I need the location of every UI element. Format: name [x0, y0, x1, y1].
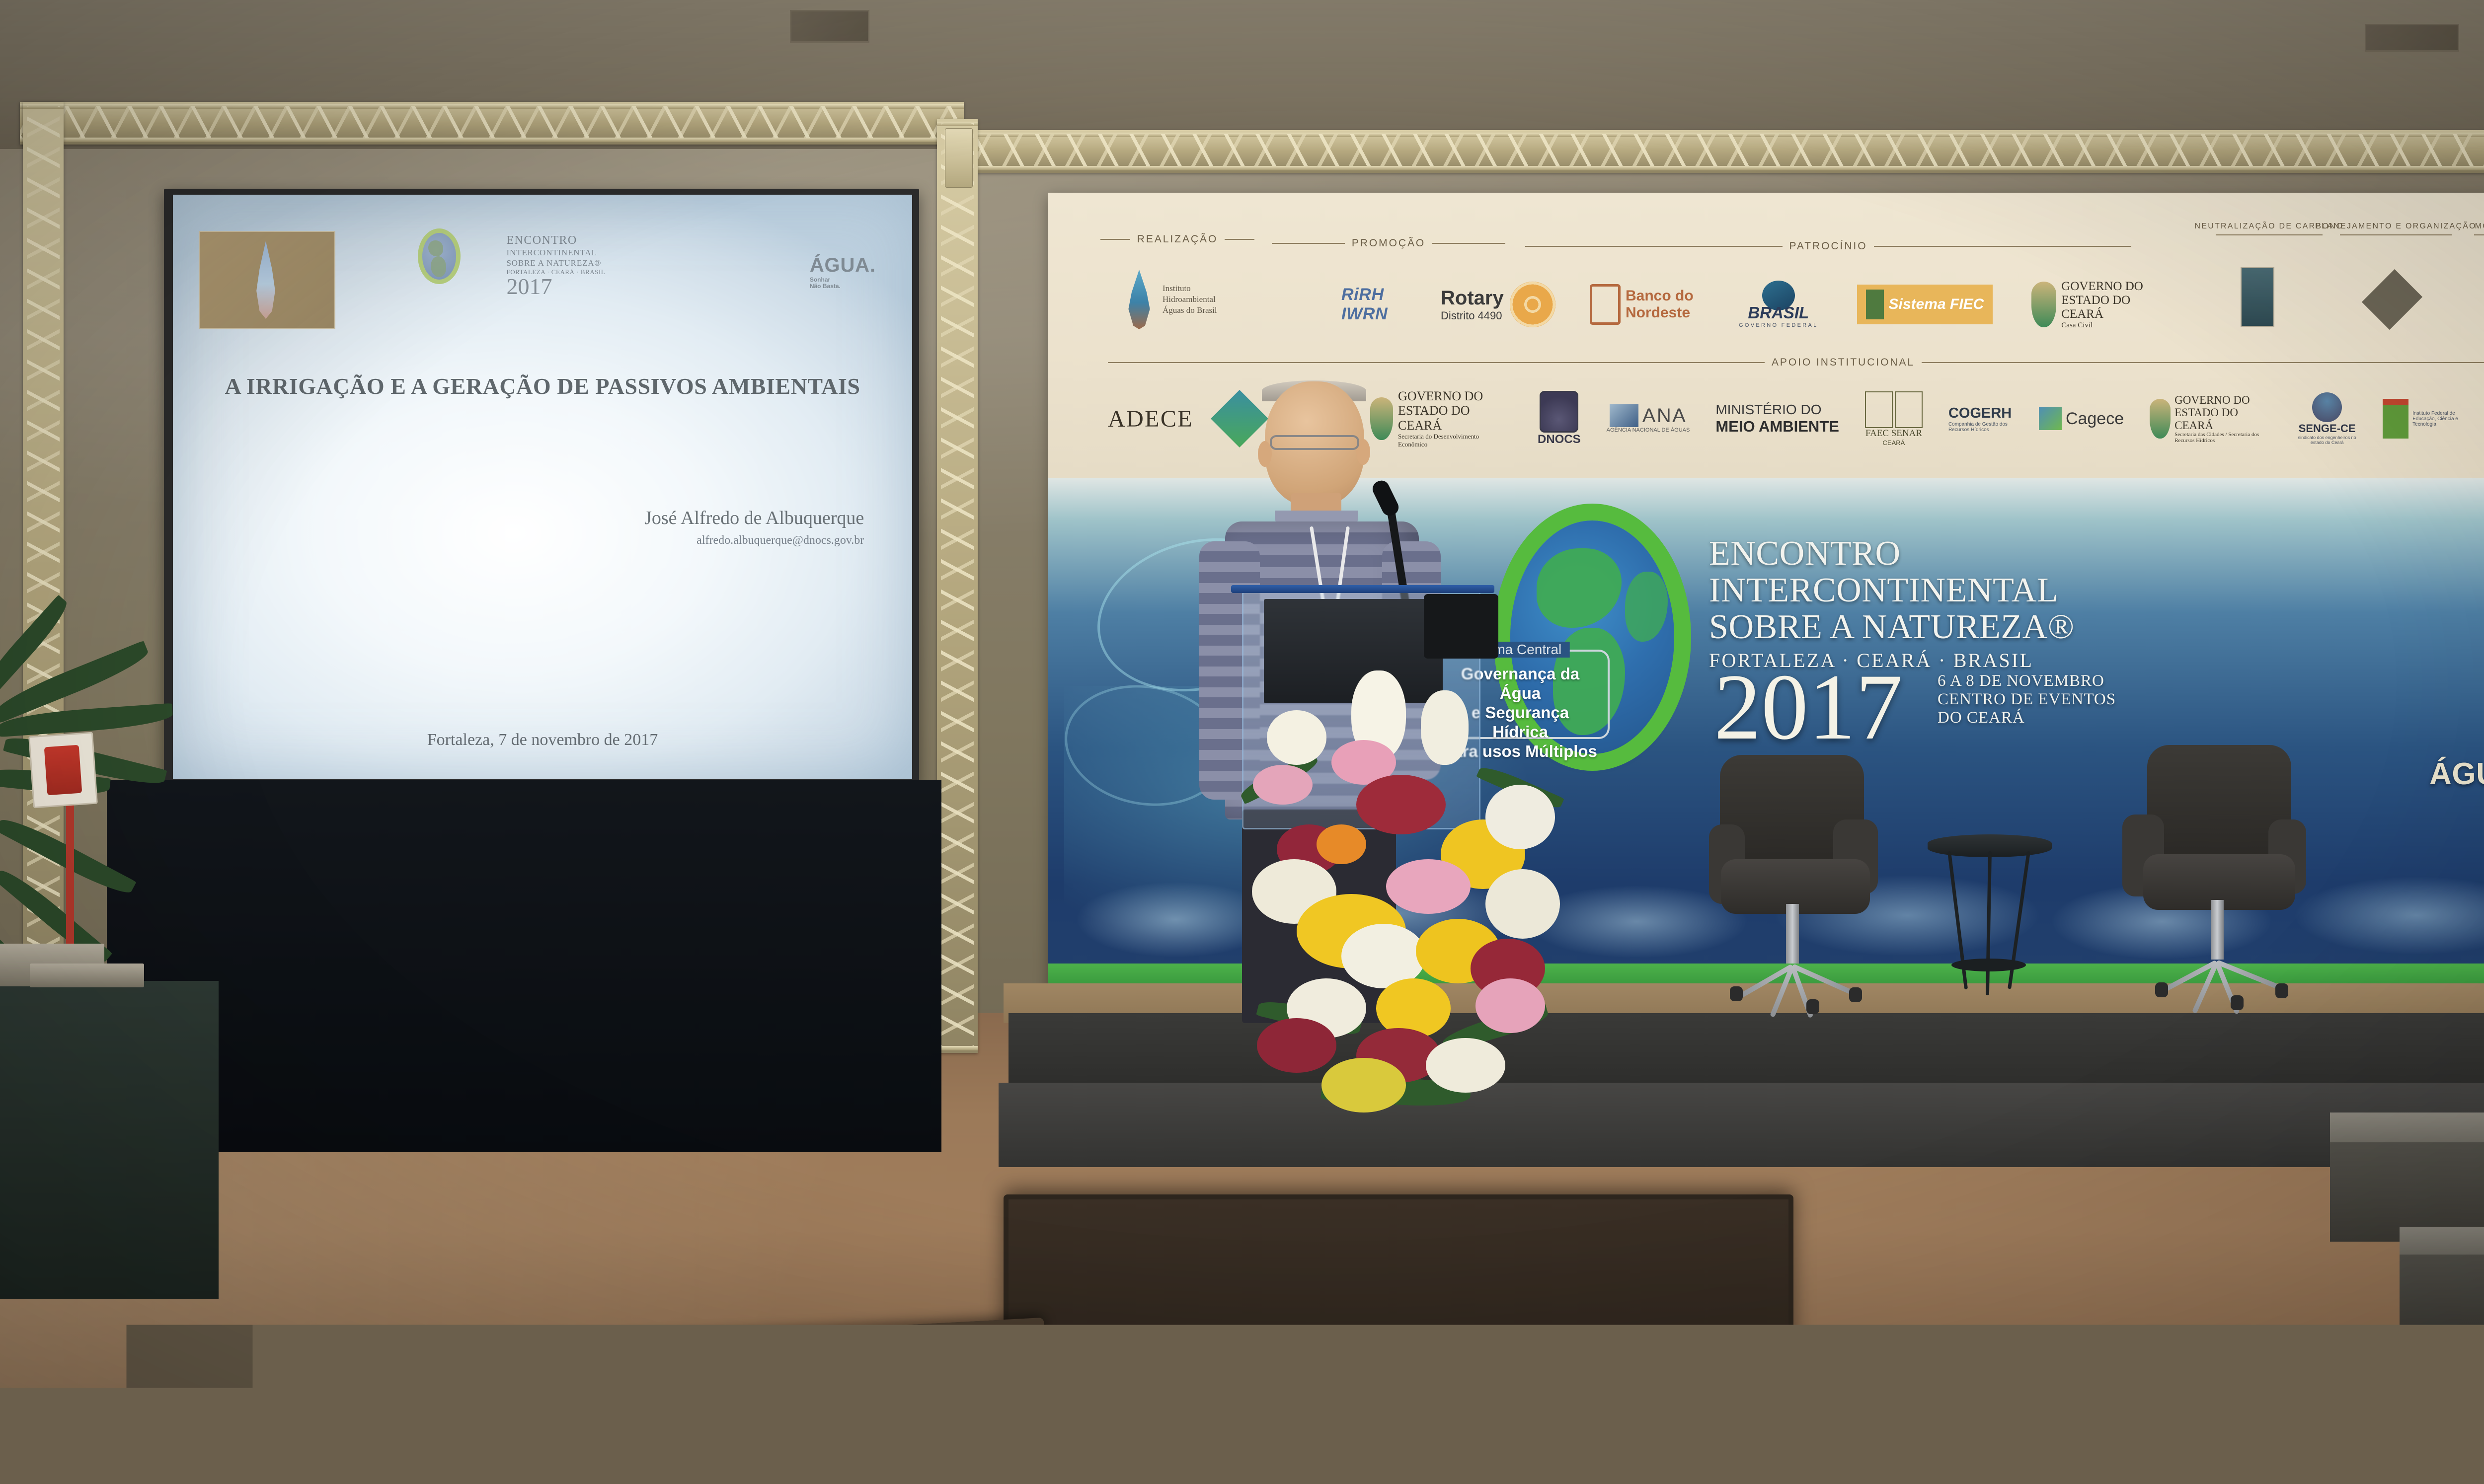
- neutralizacao-carbono-logo-row: [2241, 267, 2274, 327]
- banner-event-when: 6 A 8 DE NOVEMBRO CENTRO DE EVENTOS DO C…: [1938, 672, 2116, 727]
- brasil-governo-federal-logo: BRASIL GOVERNO FEDERAL: [1739, 281, 1818, 328]
- gov-ceara-casacivil-sub: Casa Civil: [2061, 321, 2161, 330]
- brasil-logo-text: BRASIL: [1748, 303, 1809, 322]
- truss-beam-top-left: [20, 102, 964, 145]
- governo-estado-ceara-casa-civil-logo: GOVERNO DO ESTADO DO CEARÁ Casa Civil: [2031, 280, 2161, 330]
- slide-agua-small2: Não Basta.: [810, 283, 876, 290]
- patrocinio-logo-row: Banco do Nordeste BRASIL GOVERNO FEDERAL…: [1590, 267, 2161, 342]
- section-promocao: PROMOÇÃO: [1272, 237, 1505, 249]
- banner-agua-big: ÁGUA.: [2429, 756, 2484, 792]
- ihab-logo-text: Instituto Hidroambiental Águas do Brasil: [1163, 283, 1232, 316]
- gov-ceara-cidades-sub: Secretaria das Cidades / Secretaria dos …: [2174, 432, 2271, 444]
- side-table-leg-2: [1986, 851, 1992, 995]
- ifce-logo-sub: Instituto Federal de Educação, Ciência e…: [2412, 411, 2472, 427]
- fire-extinguisher-icon: [44, 745, 82, 796]
- faec-senar-logo: FAEC SENAR CEARÁ: [1865, 391, 1923, 446]
- projection-screen: ENCONTRO INTERCONTINENTAL SOBRE A NATURE…: [173, 195, 912, 779]
- flower-white: [1421, 690, 1469, 765]
- stage-side-table: [1928, 834, 2052, 998]
- section-neutralizacao-carbono: NEUTRALIZAÇÃO DE CARBONO: [2216, 222, 2323, 235]
- section-montadora-oficial: MONTADORA OFICIAL: [2474, 222, 2484, 235]
- ihab-logo: [1123, 265, 1156, 334]
- slide-place-date: Fortaleza, 7 de novembro de 2017: [173, 731, 912, 749]
- section-realizacao: REALIZAÇÃO: [1103, 233, 1252, 245]
- banner-event-when1: 6 A 8 DE NOVEMBRO: [1938, 672, 2116, 690]
- mma-logo-text: MINISTÉRIO DO: [1715, 402, 1821, 418]
- speaker-glasses: [1270, 435, 1359, 450]
- fire-sign-pole: [66, 800, 74, 944]
- banco-do-nordeste-logo: Banco do Nordeste: [1590, 284, 1700, 325]
- ana-logo: ANA AGÊNCIA NACIONAL DE ÁGUAS: [1607, 404, 1690, 433]
- banco-do-nordeste-logo-text: Banco do Nordeste: [1626, 288, 1700, 321]
- dnocs-logo-text: DNOCS: [1538, 433, 1581, 446]
- senge-ce-logo-text: SENGE-CE: [2299, 422, 2356, 435]
- podium-top-rail: [1231, 585, 1494, 593]
- side-table-ring: [1951, 959, 2026, 971]
- faec-senar-logo-text: FAEC SENAR: [1865, 428, 1922, 439]
- flower-red: [1356, 775, 1446, 834]
- flower-white: [1485, 785, 1555, 849]
- sistema-fiec-logo-text: Sistema FIEC: [1889, 296, 1984, 313]
- rotary-logo-text: Rotary: [1441, 287, 1504, 309]
- promocao-logo-row: RiRH IWRN Rotary Distrito 4490: [1341, 267, 1555, 342]
- chair-gas-post: [1786, 904, 1799, 964]
- ifce-logo: Instituto Federal de Educação, Ciência e…: [2383, 399, 2472, 439]
- globe-continent-africa: [1625, 572, 1668, 642]
- banner-event-year: 2017: [1714, 669, 1903, 745]
- governo-estado-ceara-cidades-logo: GOVERNO DO ESTADO DO CEARÁ Secretaria da…: [2150, 394, 2271, 444]
- slide-event-line1: ENCONTRO: [506, 233, 739, 248]
- rotary-logo: Rotary Distrito 4490: [1441, 282, 1555, 327]
- ihab-water-drop-logo: [199, 231, 335, 329]
- adece-logo: ADECE: [1108, 405, 1193, 433]
- flower-orange: [1317, 824, 1366, 864]
- brasil-logo-sub: GOVERNO FEDERAL: [1739, 322, 1818, 328]
- stage-chair-left: [1709, 755, 1918, 993]
- cagece-logo-text: Cagece: [2066, 409, 2124, 429]
- chair-caster-2: [2155, 982, 2168, 997]
- banner-event-when2: CENTRO DE EVENTOS: [1938, 690, 2116, 709]
- flower-white: [1267, 710, 1326, 765]
- stage-step-lower: [2400, 1227, 2484, 1259]
- flower-pink: [1253, 765, 1313, 805]
- av-mixer: [30, 964, 144, 987]
- foreground-stage-monitor: [1004, 1194, 1793, 1484]
- faec-senar-logo-sub: CEARÁ: [1883, 439, 1905, 446]
- rirh-iwrn-logo-text: RiRH IWRN: [1341, 285, 1411, 324]
- slide-event-line3: SOBRE A NATUREZA®: [506, 258, 739, 269]
- section-patrocinio: PATROCÍNIO: [1525, 240, 2131, 252]
- planejamento-logo-row: [2365, 267, 2419, 332]
- cogerh-logo: COGERH Companhia de Gestão dos Recursos …: [1948, 405, 2013, 433]
- banner-event-line2: INTERCONTINENTAL: [1709, 572, 2255, 609]
- podium-controls[interactable]: [1424, 594, 1498, 659]
- foreground-speaker-box: [620, 1318, 1052, 1484]
- truss-column-center: [937, 119, 978, 1053]
- flower-pink: [1475, 978, 1545, 1033]
- slide-header-logos: ENCONTRO INTERCONTINENTAL SOBRE A NATURE…: [199, 224, 882, 341]
- slide-author-name: José Alfredo de Albuquerque: [644, 507, 864, 529]
- slide-event-year: 2017: [506, 276, 739, 297]
- stage-chair-right: [2111, 745, 2320, 993]
- chair-caster-3: [2231, 995, 2244, 1010]
- chair-caster-1: [2275, 983, 2288, 998]
- banner-event-line1: ENCONTRO: [1709, 535, 2255, 572]
- flower-white: [1485, 869, 1560, 939]
- slide-author-block: José Alfredo de Albuquerque alfredo.albu…: [644, 507, 864, 547]
- slide-event-wordmark: ENCONTRO INTERCONTINENTAL SOBRE A NATURE…: [506, 233, 739, 297]
- banner-event-line3: SOBRE A NATUREZA®: [1709, 609, 2255, 646]
- slide-agua-logo: ÁGUA. Sonhar Não Basta.: [810, 254, 876, 290]
- rotary-wheel-icon: [1510, 282, 1555, 327]
- conference-hall-scene: ENCONTRO INTERCONTINENTAL SOBRE A NATURE…: [0, 0, 2484, 1484]
- stage-step-lower-face: [2400, 1255, 2484, 1344]
- chair-gas-post: [2211, 900, 2224, 960]
- chair-caster-1: [1849, 987, 1862, 1002]
- chair-caster-3: [1806, 999, 1819, 1014]
- rirh-iwrn-logo: RiRH IWRN: [1341, 272, 1411, 337]
- flower-pink: [1386, 859, 1471, 914]
- flower-red: [1257, 1018, 1336, 1073]
- slide-agua-big: ÁGUA.: [810, 254, 876, 276]
- presentation-slide: ENCONTRO INTERCONTINENTAL SOBRE A NATURE…: [173, 195, 912, 779]
- fire-extinguisher-sign: [28, 732, 98, 809]
- cogerh-logo-text: COGERH: [1948, 405, 2012, 422]
- flower-arrangement: [1207, 661, 1585, 1137]
- ministerio-meio-ambiente-logo: MINISTÉRIO DO MEIO AMBIENTE: [1715, 402, 1839, 436]
- truss-connector-plate: [945, 128, 973, 188]
- dnocs-logo: DNOCS: [1538, 391, 1581, 446]
- slide-author-email: alfredo.albuquerque@dnocs.gov.br: [644, 534, 864, 547]
- av-equipment-table: [0, 981, 219, 1299]
- banner-event-title: ENCONTRO INTERCONTINENTAL SOBRE A NATURE…: [1709, 535, 2255, 671]
- busquet-logo: [2362, 269, 2422, 330]
- ceiling-vent-left: [790, 10, 869, 43]
- globe-continent-north: [1537, 548, 1622, 628]
- mma-logo-sub: MEIO AMBIENTE: [1715, 418, 1839, 436]
- flower-white: [1426, 1038, 1505, 1093]
- banner-event-when3: DO CEARÁ: [1938, 709, 2116, 727]
- section-apoio-institucional: APOIO INSTITUCIONAL: [1108, 357, 2484, 369]
- senge-ce-logo: SENGE-CE sindicato dos engenheiros no es…: [2297, 392, 2357, 445]
- sistema-fiec-logo: Sistema FIEC: [1857, 285, 1993, 324]
- chair-caster-2: [1730, 986, 1743, 1001]
- neutralizacao-carbono-logo: [2241, 267, 2274, 327]
- rotary-logo-sub: Distrito 4490: [1441, 309, 1504, 322]
- section-planejamento-organizacao: PLANEJAMENTO E ORGANIZAÇÃO: [2340, 222, 2452, 235]
- flower-yellow: [1321, 1058, 1406, 1113]
- ana-logo-sub: AGÊNCIA NACIONAL DE ÁGUAS: [1607, 427, 1690, 433]
- truss-beam-top-right: [959, 130, 2484, 173]
- slide-event-line2: INTERCONTINENTAL: [506, 248, 739, 258]
- realizacao-logo-row: Instituto Hidroambiental Águas do Brasil: [1123, 262, 1232, 337]
- ana-logo-text: ANA: [1642, 405, 1687, 427]
- slide-title: A IRRIGAÇÃO E A GERAÇÃO DE PASSIVOS AMBI…: [173, 373, 912, 399]
- encontro-globe-logo: [418, 228, 461, 284]
- senge-ce-logo-sub: sindicato dos engenheiros no estado do C…: [2297, 435, 2357, 445]
- gov-ceara-casacivil-text: GOVERNO DO ESTADO DO CEARÁ: [2061, 280, 2161, 321]
- cogerh-logo-sub: Companhia de Gestão dos Recursos Hídrico…: [1948, 422, 2013, 433]
- ceiling-vent-right: [2365, 24, 2459, 52]
- banner-agua-logo: ÁGUA. Sonhar Não Basta.: [2429, 756, 2484, 792]
- cagece-logo: Cagece: [2039, 407, 2124, 430]
- gov-ceara-cidades-text: GOVERNO DO ESTADO DO CEARÁ: [2174, 394, 2271, 432]
